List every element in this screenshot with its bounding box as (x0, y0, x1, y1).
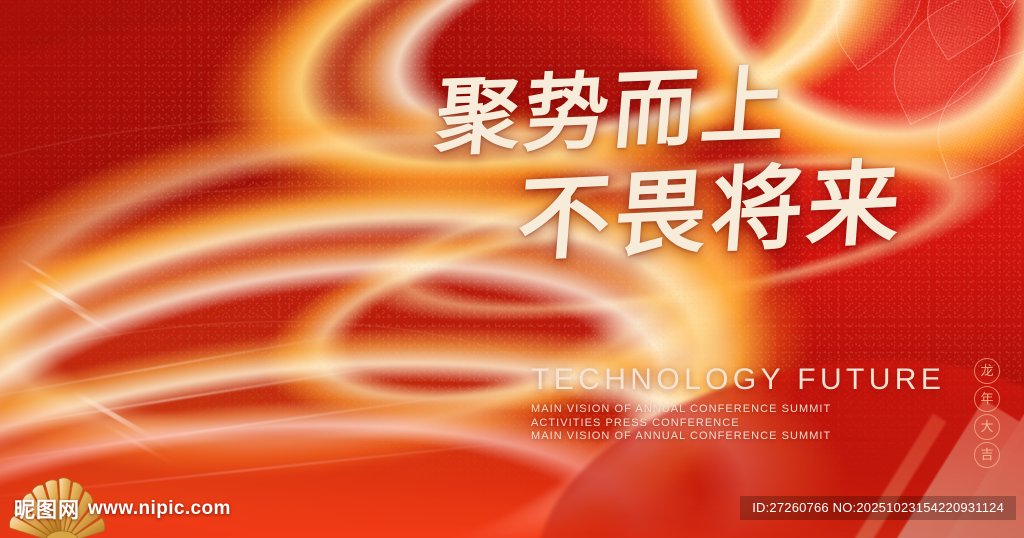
poster-content: 聚势而上 不畏将来 TECHNOLOGY FUTURE MAIN VISION … (0, 0, 1024, 538)
watermark-group: 昵图网 www.nipic.com (14, 494, 231, 524)
headline-line-1: 聚势而上 (432, 56, 957, 160)
seal-stamp: 龙 (974, 358, 1000, 384)
english-title: TECHNOLOGY FUTURE (531, 363, 945, 397)
subtitle-line: ACTIVITIES PRESS CONFERENCE (531, 417, 831, 431)
id-badge: ID:27260766 NO:20251023154220931124 (740, 496, 1016, 520)
headline-line-2: 不畏将来 (514, 154, 957, 266)
subtitle-block: MAIN VISION OF ANNUAL CONFERENCE SUMMIT … (531, 403, 831, 444)
seal-stamp: 大 (974, 414, 1000, 440)
seal-stamp: 年 (974, 386, 1000, 412)
vertical-seal-column: 龙 年 大 吉 (974, 358, 1000, 468)
subtitle-line: MAIN VISION OF ANNUAL CONFERENCE SUMMIT (531, 403, 831, 417)
headline-block: 聚势而上 不畏将来 (432, 76, 952, 266)
watermark-logo: 昵图网 (14, 494, 80, 524)
poster-canvas: 聚势而上 不畏将来 TECHNOLOGY FUTURE MAIN VISION … (0, 0, 1024, 538)
seal-stamp: 吉 (974, 442, 1000, 468)
watermark-url: www.nipic.com (88, 498, 231, 520)
subtitle-line: MAIN VISION OF ANNUAL CONFERENCE SUMMIT (531, 430, 831, 444)
